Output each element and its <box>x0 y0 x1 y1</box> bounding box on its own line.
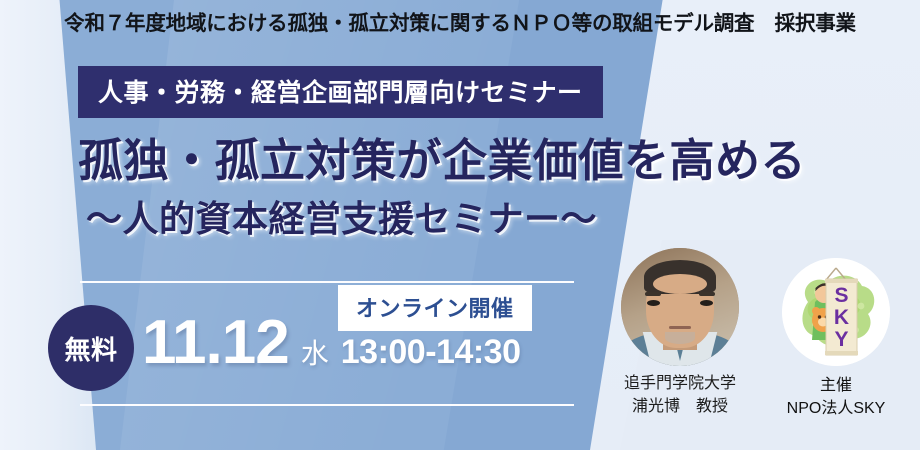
avatar-chin-beard <box>665 332 695 344</box>
target-audience-pill: 人事・労務・経営企画部門層向けセミナー <box>78 66 603 118</box>
organizer-name: NPO法人SKY <box>762 397 910 420</box>
seminar-banner: 令和７年度地域における孤独・孤立対策に関するＮＰＯ等の取組モデル調査 採択事業 … <box>0 0 920 450</box>
speaker-name: 浦光博 教授 <box>608 395 752 418</box>
program-strip-text: 令和７年度地域における孤独・孤立対策に関するＮＰＯ等の取組モデル調査 採択事業 <box>0 6 920 36</box>
avatar-mouth <box>669 326 691 329</box>
event-datetime: 11.12 水 13:00-14:30 <box>142 312 521 374</box>
organizer-caption: 主催 NPO法人SKY <box>762 374 910 420</box>
sky-logo-icon: S K Y <box>782 258 890 366</box>
divider-line-top <box>80 281 574 283</box>
avatar-hair <box>644 260 716 294</box>
headline-secondary: 〜人的資本経営支援セミナー〜 <box>86 190 597 242</box>
speaker-affiliation: 追手門学院大学 <box>608 372 752 395</box>
speaker-caption: 追手門学院大学 浦光博 教授 <box>608 372 752 418</box>
speaker-avatar <box>621 248 739 366</box>
avatar-eye-left <box>647 300 660 306</box>
divider-line-bottom <box>80 404 574 406</box>
sky-logo-letter-k: K <box>834 306 849 329</box>
avatar-eye-right <box>700 300 713 306</box>
organizer-label: 主催 <box>762 374 910 397</box>
headline-primary: 孤独・孤立対策が企業価値を高める <box>78 124 806 189</box>
event-date: 11.12 <box>142 312 289 374</box>
avatar-eyebrow-right <box>699 292 715 296</box>
sky-logo-svg: S K Y <box>782 258 890 366</box>
organizer-block: S K Y 主催 NPO法人SKY <box>762 258 910 420</box>
sky-logo-letter-s: S <box>834 284 848 307</box>
sky-logo-letter-y: Y <box>834 328 848 351</box>
free-badge-label: 無料 <box>64 330 117 367</box>
avatar-eyebrow-left <box>645 292 661 296</box>
speaker-block: 追手門学院大学 浦光博 教授 <box>608 248 752 418</box>
event-day-of-week: 水 <box>301 332 329 372</box>
event-time-range: 13:00-14:30 <box>341 333 521 372</box>
free-badge: 無料 <box>48 305 134 391</box>
